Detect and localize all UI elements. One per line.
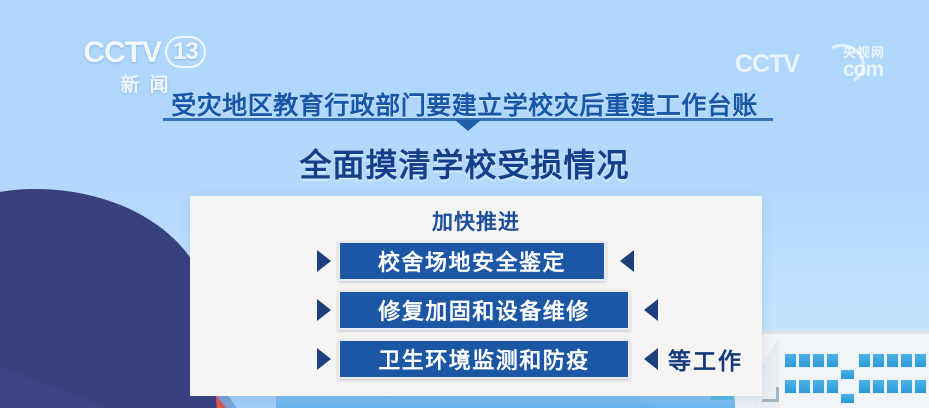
building-window	[858, 379, 871, 394]
content-card: 加快推进 校舍场地安全鉴定 修复加固和设备维修 卫生环境监测和防疫 等工作	[190, 196, 762, 396]
building-accent-bracket-2	[762, 387, 779, 402]
arrow-right-icon	[317, 348, 331, 370]
arrow-left-icon	[644, 299, 658, 321]
arrow-left-icon	[620, 250, 634, 272]
building-window	[812, 353, 825, 368]
building-window	[886, 353, 899, 368]
building-window	[798, 353, 811, 368]
cctv-logo-wordmark: CCTV13	[52, 36, 237, 68]
building-window	[798, 379, 811, 394]
building-window	[858, 353, 871, 368]
building-window	[826, 379, 839, 394]
watermark-domain: com	[843, 58, 883, 82]
list-item: 卫生环境监测和防疫 等工作	[190, 338, 762, 380]
item-suffix-text: 等工作	[668, 342, 743, 376]
card-item-list: 校舍场地安全鉴定 修复加固和设备维修 卫生环境监测和防疫 等工作	[190, 240, 762, 387]
item-pill: 校舍场地安全鉴定	[338, 241, 606, 281]
list-item: 修复加固和设备维修	[190, 289, 762, 331]
broadcast-graphic: CCTV13 新闻 CCTV 央视网 com 受灾地区教育行政部门要建立学校灾后…	[0, 0, 929, 408]
building-window	[872, 379, 885, 394]
secondary-headline: 全面摸清学校受损情况	[0, 140, 929, 186]
building-window	[826, 353, 839, 368]
item-pill: 修复加固和设备维修	[338, 290, 630, 330]
building-window	[900, 379, 913, 394]
building-window	[900, 353, 913, 368]
building-window	[784, 353, 797, 368]
chevron-down-icon	[455, 120, 481, 131]
watermark-brand: CCTV	[735, 50, 799, 79]
building-window	[914, 353, 927, 368]
building-window-small	[840, 393, 855, 404]
item-pill: 卫生环境监测和防疫	[338, 339, 630, 379]
primary-headline: 受灾地区教育行政部门要建立学校灾后重建工作台账	[0, 86, 929, 122]
cctv-logo-text: CCTV	[83, 36, 161, 69]
arrow-left-icon	[644, 348, 658, 370]
building-window	[872, 353, 885, 368]
building-window-small	[840, 369, 855, 380]
building-window	[812, 379, 825, 394]
building-window	[914, 379, 927, 394]
card-title: 加快推进	[190, 206, 762, 236]
arrow-right-icon	[317, 250, 331, 272]
decorative-navy-shape	[0, 177, 219, 408]
building-window	[886, 379, 899, 394]
cctv-logo-number: 13	[165, 36, 206, 68]
arrow-right-icon	[317, 299, 331, 321]
list-item: 校舍场地安全鉴定	[190, 240, 762, 282]
building-window	[784, 379, 797, 394]
cctv-com-watermark: CCTV 央视网 com	[735, 40, 885, 84]
